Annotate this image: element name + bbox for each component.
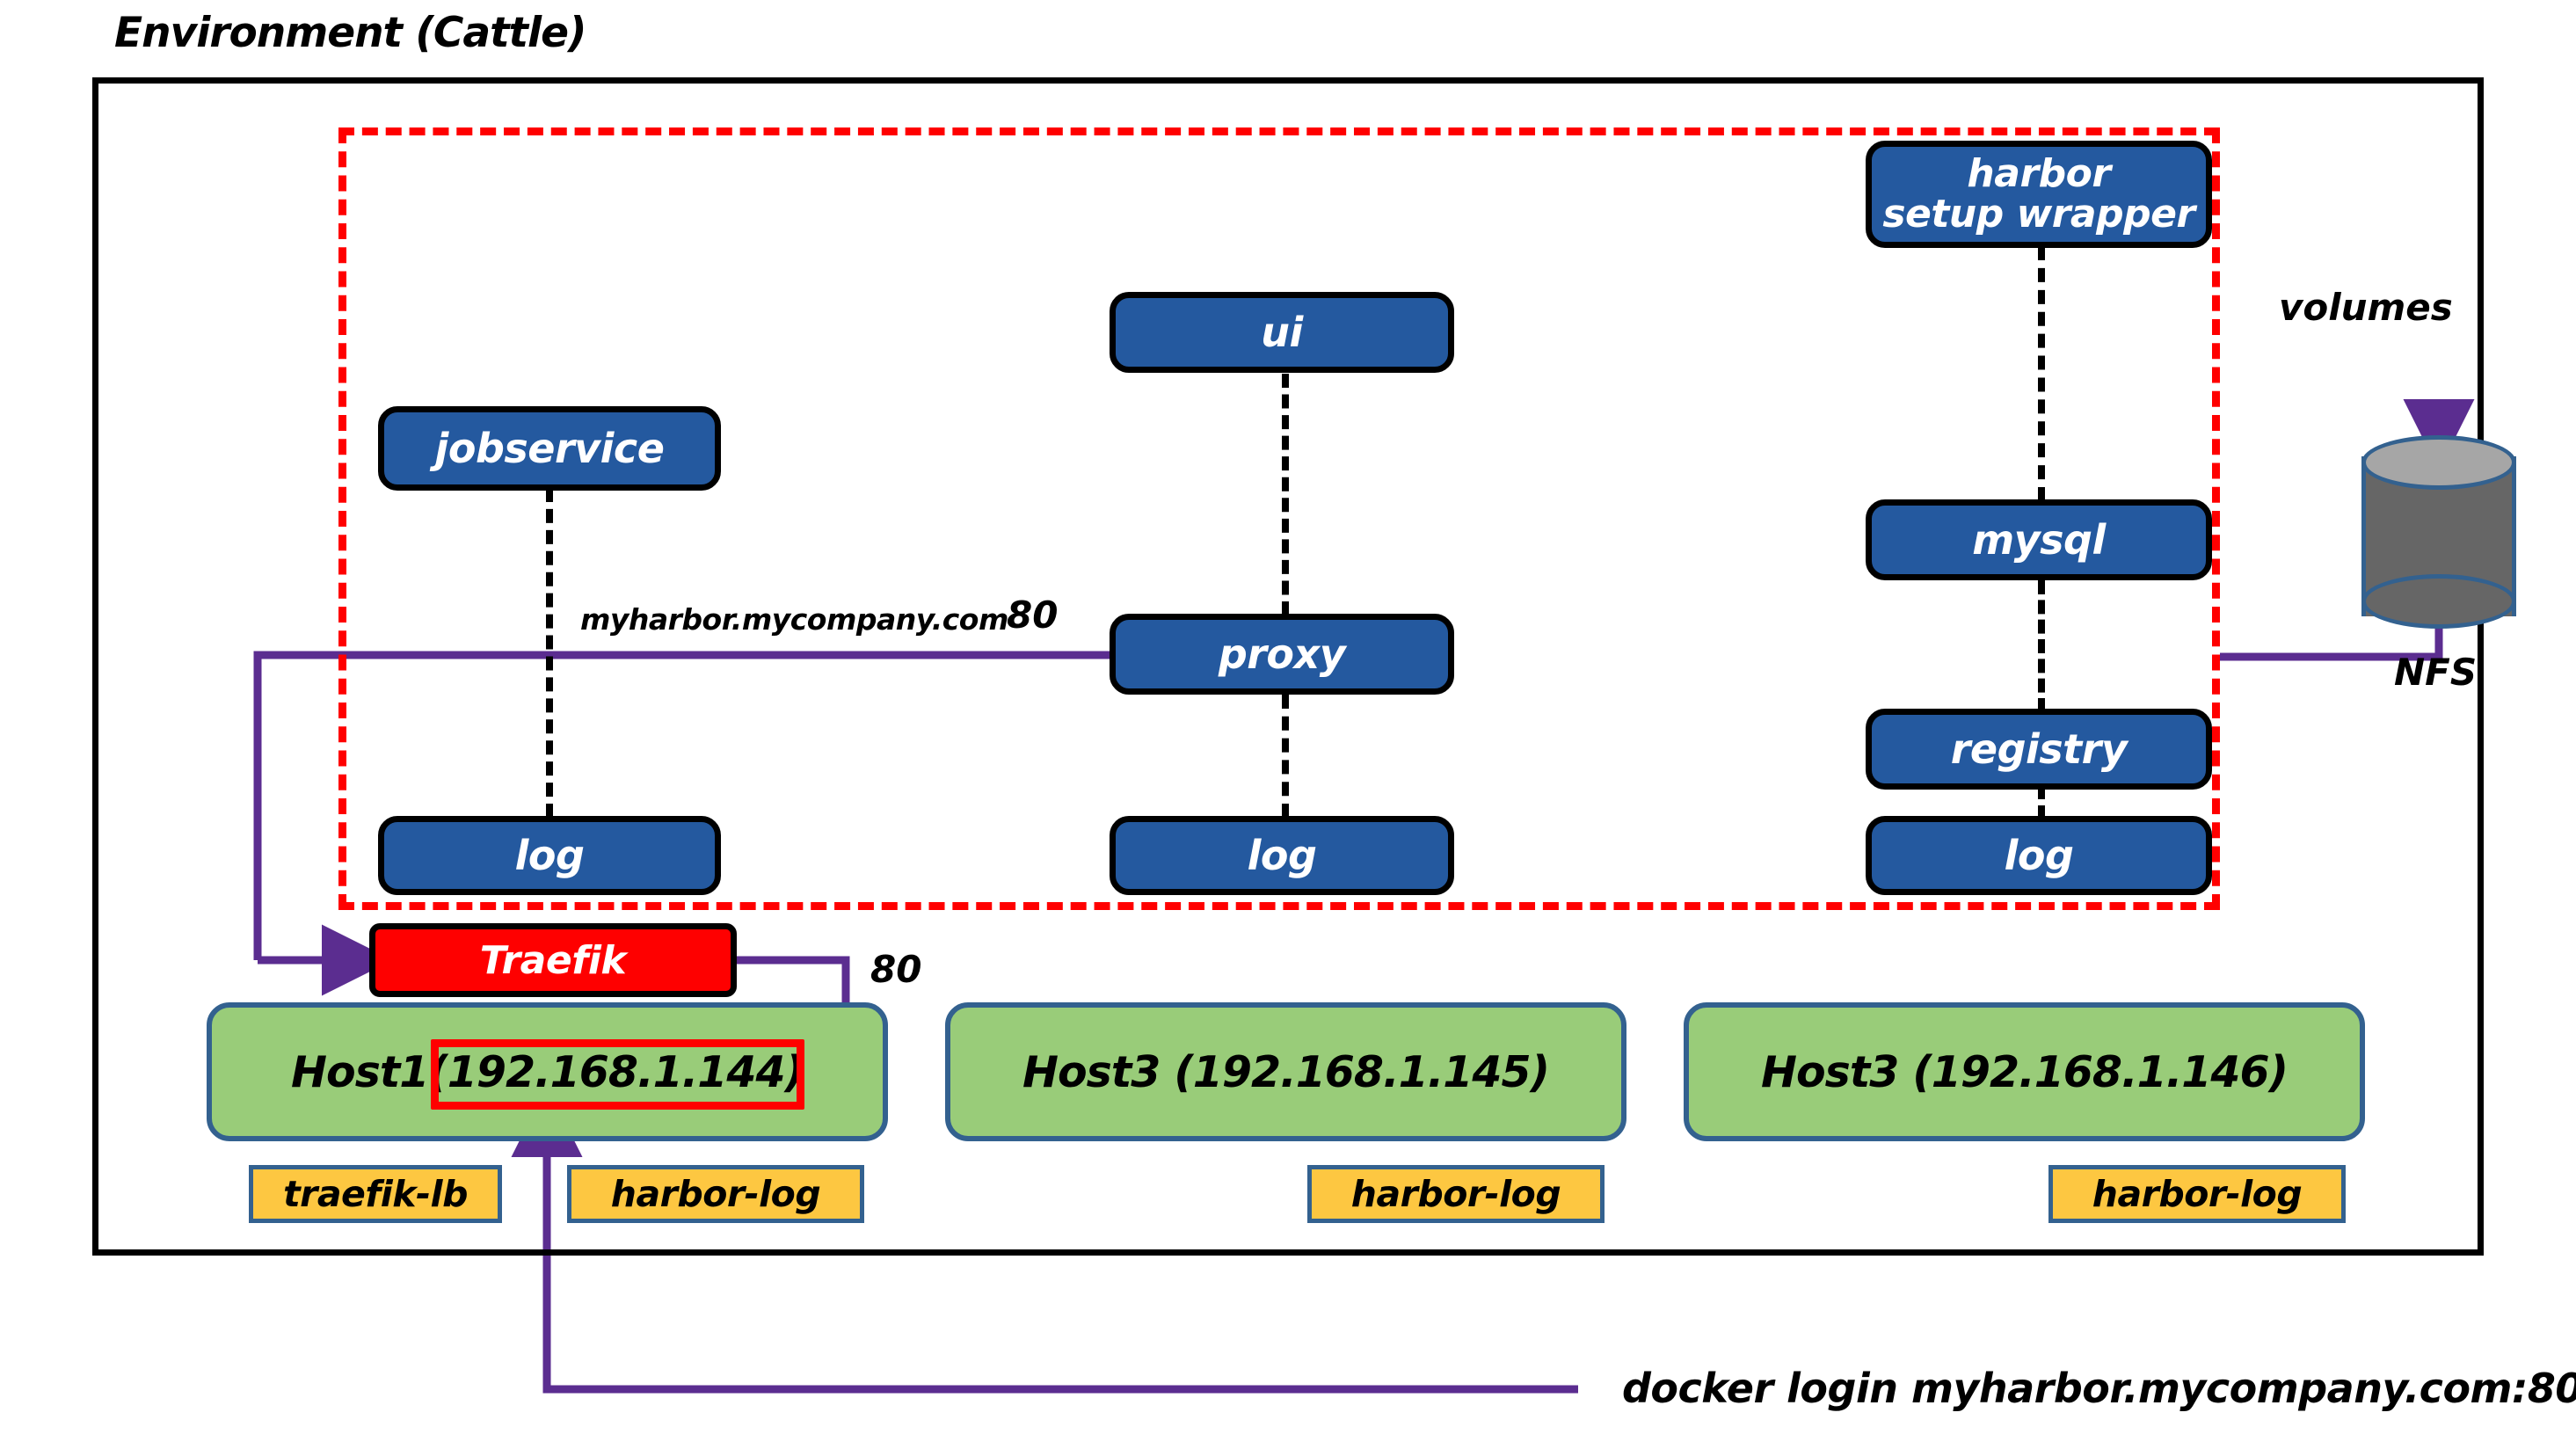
link-mysql-registry	[2038, 580, 2045, 712]
port-label-proxy: 80	[1007, 593, 1058, 637]
link-wrapper-mysql	[2038, 246, 2045, 501]
service-box-jobservice[interactable]: jobservice	[378, 406, 721, 491]
service-box-registry[interactable]: registry	[1866, 709, 2212, 790]
harbor-setup-wrapper-line2: setup wrapper	[1882, 194, 2194, 235]
service-box-harbor-setup-wrapper[interactable]: harbor setup wrapper	[1866, 141, 2212, 248]
link-registry-log	[2038, 787, 2045, 818]
hostname-label: myharbor.mycompany.com	[580, 602, 1008, 637]
page-title: Environment (Cattle)	[114, 9, 906, 62]
service-box-mysql[interactable]: mysql	[1866, 499, 2212, 580]
port-label-traefik: 80	[870, 948, 921, 991]
badge-harbor-log-host3[interactable]: harbor-log	[2048, 1165, 2346, 1223]
service-box-ui[interactable]: ui	[1110, 292, 1454, 373]
volumes-label: volumes	[2279, 286, 2453, 329]
link-proxy-log	[1282, 695, 1289, 818]
host-box-2[interactable]: Host3 (192.168.1.145)	[945, 1002, 1626, 1141]
traefik-box[interactable]: Traefik	[369, 923, 737, 997]
host-3-name: Host3 (192.168.1.146)	[1761, 1047, 2288, 1097]
nfs-label: NFS	[2394, 651, 2477, 694]
host-box-3[interactable]: Host3 (192.168.1.146)	[1684, 1002, 2365, 1141]
docker-login-label: docker login myharbor.mycompany.com:80	[1622, 1365, 2576, 1412]
host-1-ip-highlight	[431, 1039, 804, 1110]
badge-harbor-log-host1[interactable]: harbor-log	[567, 1165, 864, 1223]
nfs-storage-icon	[2361, 435, 2516, 637]
service-box-log-center[interactable]: log	[1110, 816, 1454, 895]
service-box-log-right[interactable]: log	[1866, 816, 2212, 895]
badge-traefik-lb[interactable]: traefik-lb	[249, 1165, 502, 1223]
link-jobservice-log	[546, 488, 553, 818]
host-1-name: Host1	[291, 1047, 428, 1097]
badge-harbor-log-host2[interactable]: harbor-log	[1307, 1165, 1605, 1223]
service-box-log-left[interactable]: log	[378, 816, 721, 895]
diagram-canvas: Environment (Cattle) jobservice log ui p…	[0, 0, 2576, 1449]
link-ui-proxy	[1282, 374, 1289, 615]
host-2-name: Host3 (192.168.1.145)	[1022, 1047, 1549, 1097]
harbor-setup-wrapper-line1: harbor	[1967, 154, 2110, 194]
service-box-proxy[interactable]: proxy	[1110, 614, 1454, 695]
